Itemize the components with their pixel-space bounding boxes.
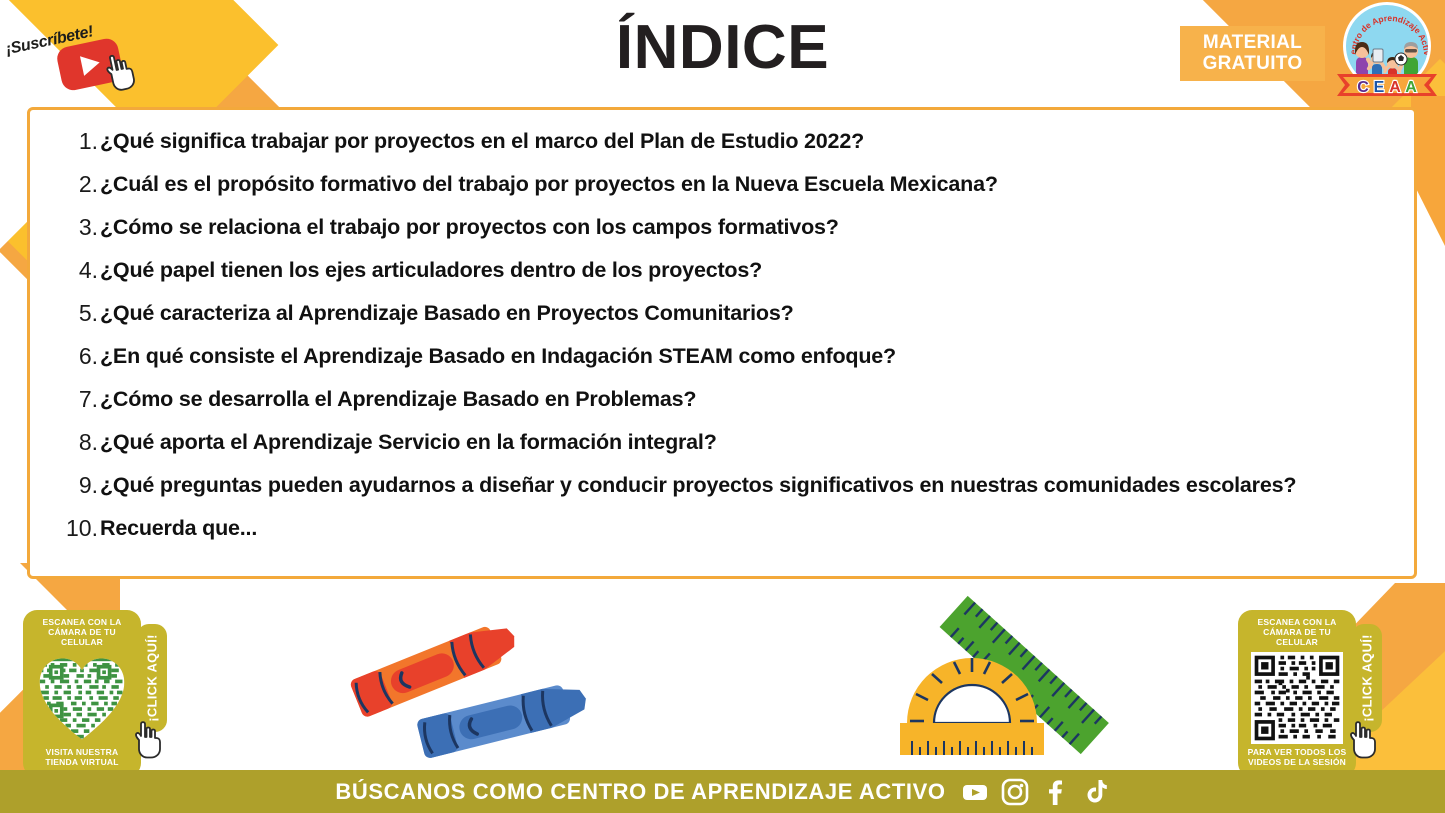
list-item-number: 4. xyxy=(52,249,100,292)
qr-badge-tienda[interactable]: ¡CLICK AQUÍ! ESCANEA CON LA CÁMARA DE TU… xyxy=(23,610,179,777)
list-item-number: 6. xyxy=(52,335,100,378)
ceaa-letter-c: C xyxy=(1357,79,1369,96)
list-item-text: ¿Cuál es el propósito formativo del trab… xyxy=(100,163,1392,206)
list-item-number: 8. xyxy=(52,421,100,464)
youtube-icon[interactable] xyxy=(960,777,990,807)
index-list: 1. ¿Qué significa trabajar por proyectos… xyxy=(52,120,1392,550)
list-item[interactable]: 1. ¿Qué significa trabajar por proyectos… xyxy=(52,120,1392,163)
hand-cursor-icon xyxy=(131,720,165,760)
ceaa-ribbon: C E A A xyxy=(1337,70,1437,100)
list-item-number: 7. xyxy=(52,378,100,421)
qr-caption-bottom: PARA VER TODOS LOS VIDEOS DE LA SESIÓN xyxy=(1244,748,1350,768)
list-item[interactable]: 4. ¿Qué papel tienen los ejes articulado… xyxy=(52,249,1392,292)
qr-code-square xyxy=(1251,652,1343,744)
hand-cursor-icon xyxy=(1346,720,1380,760)
material-line-2: GRATUITO xyxy=(1203,54,1303,75)
qr-caption-top: ESCANEA CON LA CÁMARA DE TU CELULAR xyxy=(29,618,135,647)
list-item-text: ¿Qué caracteriza al Aprendizaje Basado e… xyxy=(100,292,1392,335)
qr-card-right: ESCANEA CON LA CÁMARA DE TU CELULAR xyxy=(1238,610,1356,777)
list-item-text: ¿En qué consiste el Aprendizaje Basado e… xyxy=(100,335,1392,378)
material-gratuito-badge: MATERIAL GRATUITO xyxy=(1180,26,1325,81)
list-item[interactable]: 8. ¿Qué aporta el Aprendizaje Servicio e… xyxy=(52,421,1392,464)
click-tab-label: ¡CLICK AQUÍ! xyxy=(145,634,160,722)
click-tab-left[interactable]: ¡CLICK AQUÍ! xyxy=(137,624,167,732)
crayons-illustration xyxy=(330,598,630,758)
hand-cursor-icon xyxy=(99,49,141,95)
footer-text: BÚSCANOS COMO CENTRO DE APRENDIZAJE ACTI… xyxy=(335,779,945,805)
social-icons xyxy=(960,777,1110,807)
list-item[interactable]: 9. ¿Qué preguntas pueden ayudarnos a dis… xyxy=(52,464,1392,507)
list-item-number: 3. xyxy=(52,206,100,249)
list-item-number: 5. xyxy=(52,292,100,335)
list-item-text: ¿Qué aporta el Aprendizaje Servicio en l… xyxy=(100,421,1392,464)
list-item-number: 10. xyxy=(52,507,100,550)
list-item[interactable]: 7. ¿Cómo se desarrolla el Aprendizaje Ba… xyxy=(52,378,1392,421)
qr-code-heart xyxy=(36,652,128,744)
list-item[interactable]: 3. ¿Cómo se relaciona el trabajo por pro… xyxy=(52,206,1392,249)
list-item-number: 2. xyxy=(52,163,100,206)
list-item-text: ¿Qué significa trabajar por proyectos en… xyxy=(100,120,1392,163)
list-item-text: ¿Cómo se relaciona el trabajo por proyec… xyxy=(100,206,1392,249)
material-line-1: MATERIAL xyxy=(1203,33,1302,54)
list-item[interactable]: 2. ¿Cuál es el propósito formativo del t… xyxy=(52,163,1392,206)
instagram-icon[interactable] xyxy=(1000,777,1030,807)
qr-caption-top: ESCANEA CON LA CÁMARA DE TU CELULAR xyxy=(1244,618,1350,647)
list-item[interactable]: 10. Recuerda que... xyxy=(52,507,1392,550)
list-item-text: ¿Qué papel tienen los ejes articuladores… xyxy=(100,249,1392,292)
footer-bar: BÚSCANOS COMO CENTRO DE APRENDIZAJE ACTI… xyxy=(0,770,1445,813)
list-item-number: 9. xyxy=(52,464,100,507)
tiktok-icon[interactable] xyxy=(1080,777,1110,807)
click-tab-right[interactable]: ¡CLICK AQUÍ! xyxy=(1352,624,1382,732)
qr-card-left: ESCANEA CON LA CÁMARA DE TU CELULAR xyxy=(23,610,141,777)
geometry-tools-illustration xyxy=(872,578,1142,763)
ceaa-logo: Centro de Aprendizaje Activo xyxy=(1337,2,1437,102)
list-item[interactable]: 6. ¿En qué consiste el Aprendizaje Basad… xyxy=(52,335,1392,378)
list-item-text: ¿Qué preguntas pueden ayudarnos a diseña… xyxy=(100,464,1392,507)
qr-caption-bottom: VISITA NUESTRA TIENDA VIRTUAL xyxy=(29,748,135,768)
list-item-text: ¿Cómo se desarrolla el Aprendizaje Basad… xyxy=(100,378,1392,421)
qr-badge-videos[interactable]: ¡CLICK AQUÍ! ESCANEA CON LA CÁMARA DE TU… xyxy=(1238,610,1394,777)
slide-root: ¡Suscríbete! ÍNDICE MATERIAL GRATUITO Ce… xyxy=(0,0,1445,813)
list-item-number: 1. xyxy=(52,120,100,163)
list-item[interactable]: 5. ¿Qué caracteriza al Aprendizaje Basad… xyxy=(52,292,1392,335)
list-item-text: Recuerda que... xyxy=(100,507,1392,550)
ceaa-letter-e: E xyxy=(1374,79,1385,96)
index-content-box: 1. ¿Qué significa trabajar por proyectos… xyxy=(27,107,1417,579)
ceaa-letter-a1: A xyxy=(1389,79,1401,96)
facebook-icon[interactable] xyxy=(1040,777,1070,807)
ceaa-letter-a2: A xyxy=(1405,79,1417,96)
click-tab-label: ¡CLICK AQUÍ! xyxy=(1360,634,1375,722)
